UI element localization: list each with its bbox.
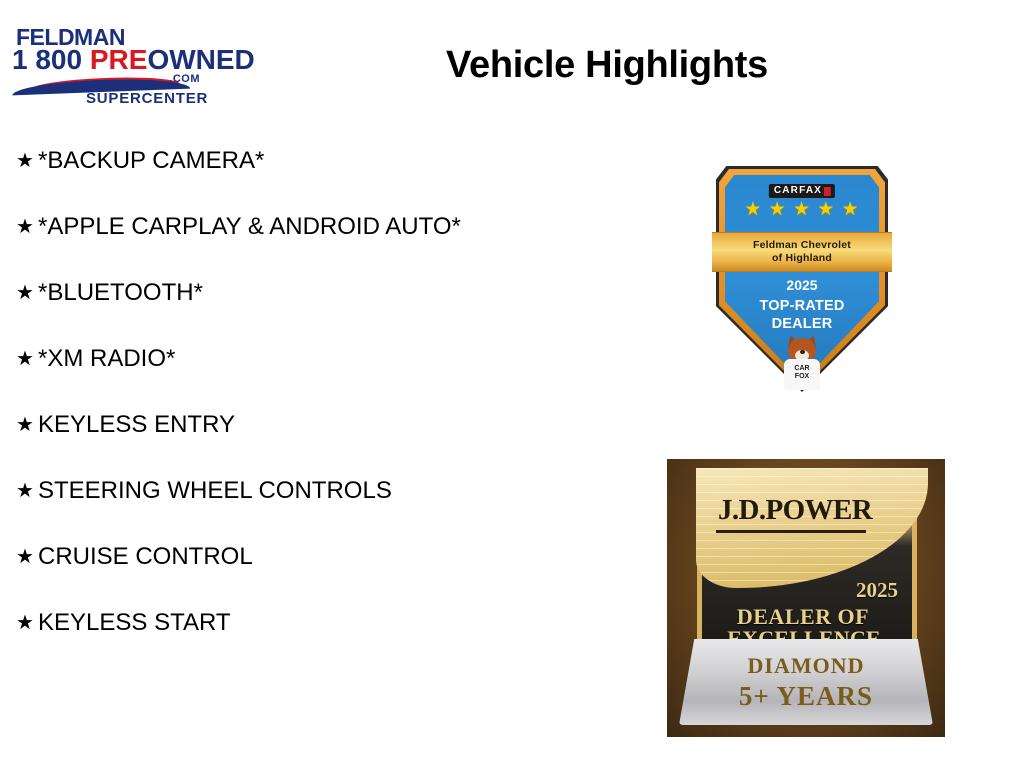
list-item-label: *BACKUP CAMERA* bbox=[38, 146, 548, 176]
jdpower-plaque-arc-stripes bbox=[696, 468, 928, 588]
jdpower-brand-text: J.D.POWER bbox=[718, 496, 872, 525]
list-item-label: STEERING WHEEL CONTROLS bbox=[38, 476, 548, 506]
list-item: ★ KEYLESS ENTRY bbox=[8, 410, 548, 440]
carfax-star-rating: ★ ★ ★ ★ ★ bbox=[716, 200, 888, 219]
star-bullet-icon: ★ bbox=[8, 476, 38, 506]
carfax-logo: CARFAX bbox=[769, 184, 835, 198]
list-item-label: CRUISE CONTROL bbox=[38, 542, 548, 572]
jdpower-plaque-arc bbox=[696, 468, 928, 588]
logo-tagline-text: SUPERCENTER bbox=[86, 90, 208, 107]
list-item-label: KEYLESS START bbox=[38, 608, 548, 638]
jdpower-award-line1: DEALER OF bbox=[702, 606, 904, 628]
jdpower-tier-label: DIAMOND bbox=[667, 655, 945, 677]
star-bullet-icon: ★ bbox=[8, 146, 38, 176]
carfax-dealer-name-banner: Feldman Chevrolet of Highland bbox=[712, 232, 892, 272]
list-item: ★ KEYLESS START bbox=[8, 608, 548, 638]
carfax-logo-text: CARFAX bbox=[774, 186, 822, 196]
star-bullet-icon: ★ bbox=[8, 278, 38, 308]
carfax-award-year: 2025 bbox=[716, 278, 888, 292]
carfox-mascot-icon: CAR FOX bbox=[778, 338, 826, 390]
carfax-dealer-name-line2: of Highland bbox=[772, 252, 832, 265]
carfax-award-line2: DEALER bbox=[716, 316, 888, 333]
carfax-top-rated-dealer-badge: CARFAX ★ ★ ★ ★ ★ Feldman Chevrolet of Hi… bbox=[716, 166, 888, 392]
star-bullet-icon: ★ bbox=[8, 212, 38, 242]
jdpower-dealer-of-excellence-award: J.D.POWER 2025 DEALER OF EXCELLENCE DIAM… bbox=[667, 459, 945, 737]
list-item-label: KEYLESS ENTRY bbox=[38, 410, 548, 440]
star-bullet-icon: ★ bbox=[8, 344, 38, 374]
jdpower-duration-label: 5+ YEARS bbox=[667, 683, 945, 710]
list-item: ★ STEERING WHEEL CONTROLS bbox=[8, 476, 548, 506]
carfox-nose bbox=[800, 350, 805, 354]
vehicle-highlights-list: ★ *BACKUP CAMERA* ★ *APPLE CARPLAY & AND… bbox=[8, 146, 548, 674]
carfax-dealer-name-line1: Feldman Chevrolet bbox=[753, 239, 851, 252]
list-item-label: *BLUETOOTH* bbox=[38, 278, 548, 308]
list-item: ★ *XM RADIO* bbox=[8, 344, 548, 374]
jdpower-award-year: 2025 bbox=[856, 580, 898, 601]
star-bullet-icon: ★ bbox=[8, 542, 38, 572]
list-item: ★ CRUISE CONTROL bbox=[8, 542, 548, 572]
carfox-shirt: CAR FOX bbox=[784, 359, 820, 390]
carfax-logo-mark-icon bbox=[824, 187, 831, 196]
page-title: Vehicle Highlights bbox=[0, 44, 1024, 87]
jdpower-brand-underline bbox=[716, 530, 866, 533]
carfox-shirt-line2: FOX bbox=[784, 373, 820, 381]
list-item: ★ *BACKUP CAMERA* bbox=[8, 146, 548, 176]
carfox-shirt-line1: CAR bbox=[784, 365, 820, 373]
carfax-award-line1: TOP-RATED bbox=[716, 298, 888, 315]
list-item: ★ *APPLE CARPLAY & ANDROID AUTO* bbox=[8, 212, 548, 242]
list-item: ★ *BLUETOOTH* bbox=[8, 278, 548, 308]
star-bullet-icon: ★ bbox=[8, 410, 38, 440]
list-item-label: *APPLE CARPLAY & ANDROID AUTO* bbox=[38, 212, 548, 242]
jdpower-plaque: J.D.POWER 2025 DEALER OF EXCELLENCE bbox=[697, 469, 917, 659]
list-item-label: *XM RADIO* bbox=[38, 344, 548, 374]
star-bullet-icon: ★ bbox=[8, 608, 38, 638]
